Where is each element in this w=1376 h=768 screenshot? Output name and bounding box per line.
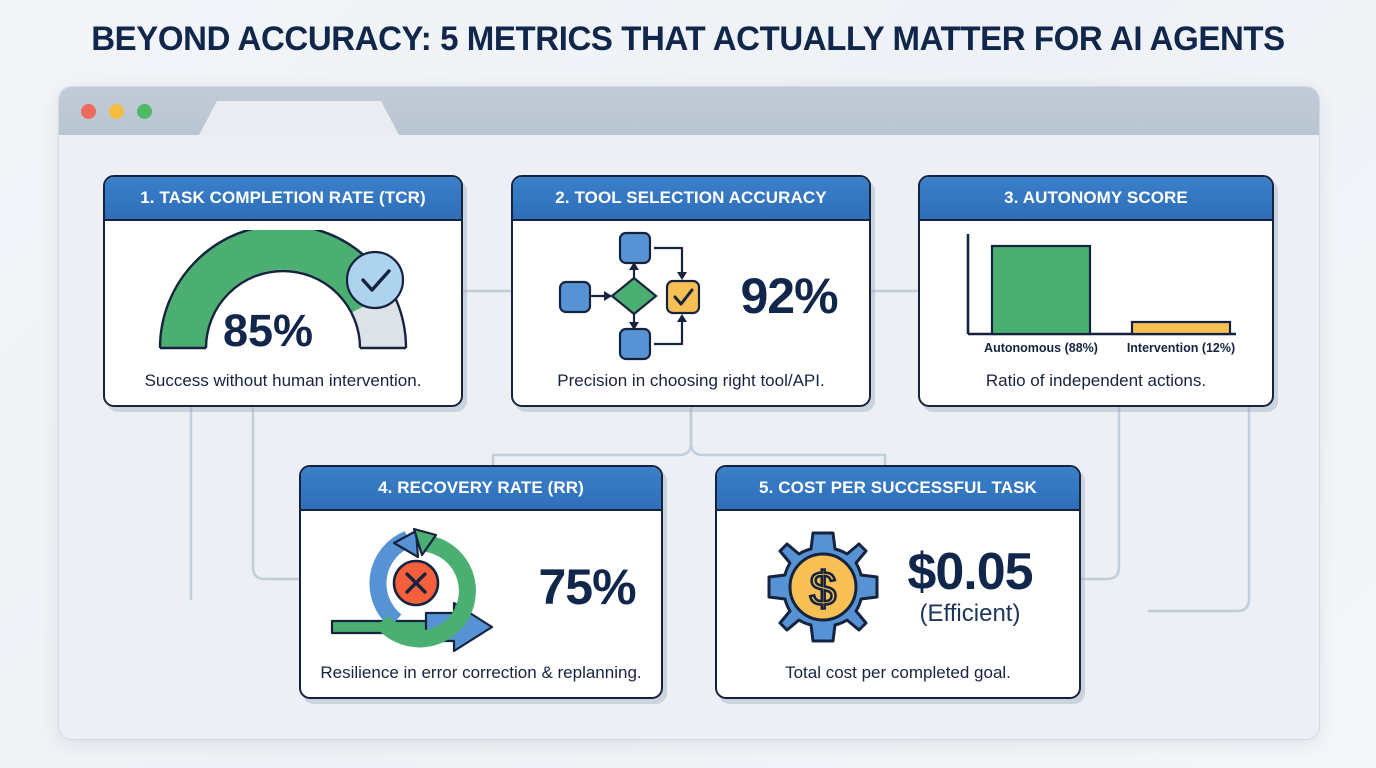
recovery-rate-value: 75% [538,562,635,612]
recovery-loop-diagram [326,517,516,657]
metric-card-task-completion-rate[interactable]: 1. TASK COMPLETION RATE (TCR) 85% [103,175,463,407]
input-node [560,282,590,312]
dollar-glyph: $ [810,563,837,616]
metric-card-recovery-rate[interactable]: 4. RECOVERY RATE (RR) [299,465,663,699]
cost-value: $0.05 [907,546,1032,598]
card-header-title: 1. TASK COMPLETION RATE (TCR) [105,177,461,221]
recovery-visual: 75% [301,511,661,663]
gauge-chart: 85% [105,221,461,371]
bar-autonomous [992,246,1090,334]
browser-tab[interactable] [199,101,399,135]
minimize-window-button[interactable] [109,104,124,119]
bar-label-intervention: Intervention (12%) [1127,341,1235,355]
page-title: BEYOND ACCURACY: 5 METRICS THAT ACTUALLY… [21,20,1356,59]
card-header-title: 2. TOOL SELECTION ACCURACY [513,177,869,221]
bar-label-autonomous: Autonomous (88%) [984,341,1098,355]
card-caption: Resilience in error correction & replann… [301,663,661,697]
tool-selection-visual: 92% [513,221,869,371]
metric-card-autonomy-score[interactable]: 3. AUTONOMY SCORE Autonomous (88%) Inter… [918,175,1274,407]
gauge-value: 85% [223,305,313,356]
card-header-title: 4. RECOVERY RATE (RR) [301,467,661,511]
option-top-node [620,233,650,263]
cost-gear-icon: $ [763,527,883,647]
tool-selection-value: 92% [740,271,837,321]
card-header-title: 3. AUTONOMY SCORE [920,177,1272,221]
option-bottom-node [620,329,650,359]
card-caption: Total cost per completed goal. [717,663,1079,697]
flowchart-diagram [544,230,724,362]
card-caption: Success without human intervention. [105,371,461,405]
selected-tool-node [667,281,699,313]
card-header-title: 5. COST PER SUCCESSFUL TASK [717,467,1079,511]
close-window-button[interactable] [81,104,96,119]
cost-status-label: (Efficient) [907,600,1032,628]
decision-node [612,278,656,314]
check-badge [347,252,403,308]
card-caption: Precision in choosing right tool/API. [513,371,869,405]
bar-intervention [1132,322,1230,334]
browser-titlebar [59,87,1319,135]
maximize-window-button[interactable] [137,104,152,119]
browser-window-mockup: 1. TASK COMPLETION RATE (TCR) 85% [58,86,1320,740]
autonomy-bar-chart: Autonomous (88%) Intervention (12%) [920,221,1272,371]
metric-card-cost-per-successful-task[interactable]: 5. COST PER SUCCESSFUL TASK $ $0.05 (Eff… [715,465,1081,699]
card-caption: Ratio of independent actions. [920,371,1272,405]
metric-card-tool-selection-accuracy[interactable]: 2. TOOL SELECTION ACCURACY [511,175,871,407]
cost-visual: $ $0.05 (Efficient) [717,511,1079,663]
